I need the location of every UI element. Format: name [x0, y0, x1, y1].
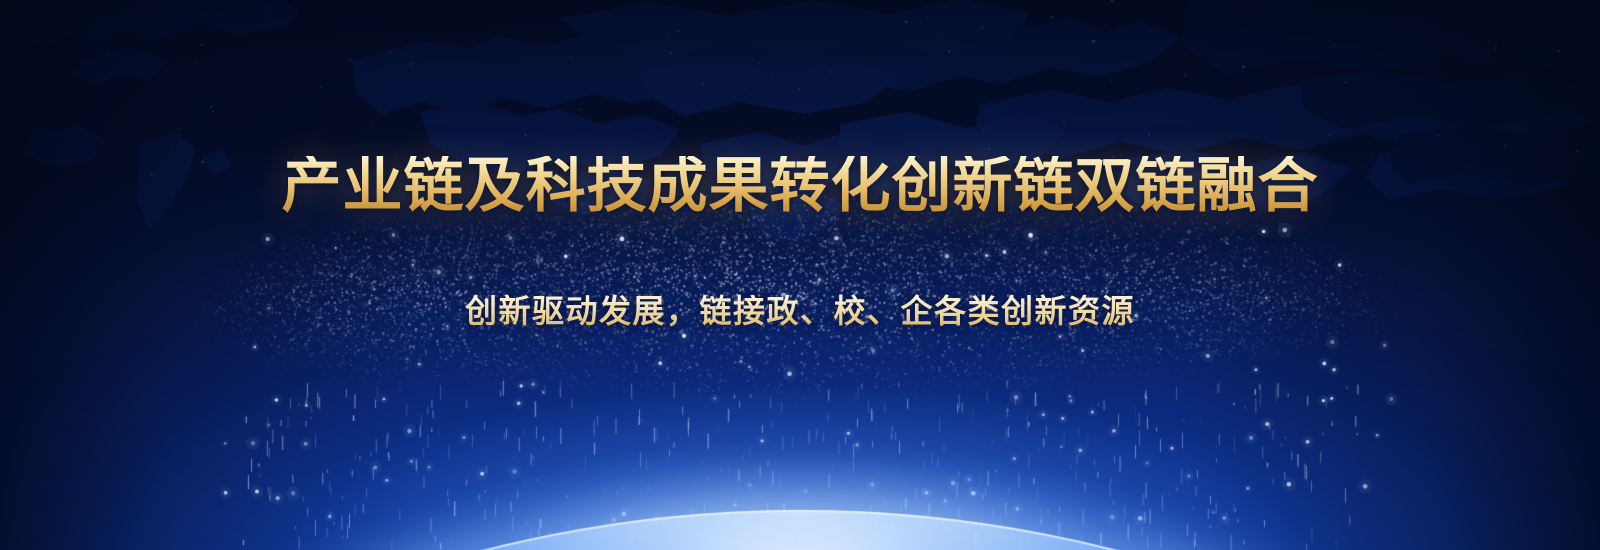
hero-banner: 产业链及科技成果转化创新链双链融合 创新驱动发展，链接政、校、企各类创新资源: [0, 0, 1600, 550]
background-vignette: [0, 0, 1600, 550]
